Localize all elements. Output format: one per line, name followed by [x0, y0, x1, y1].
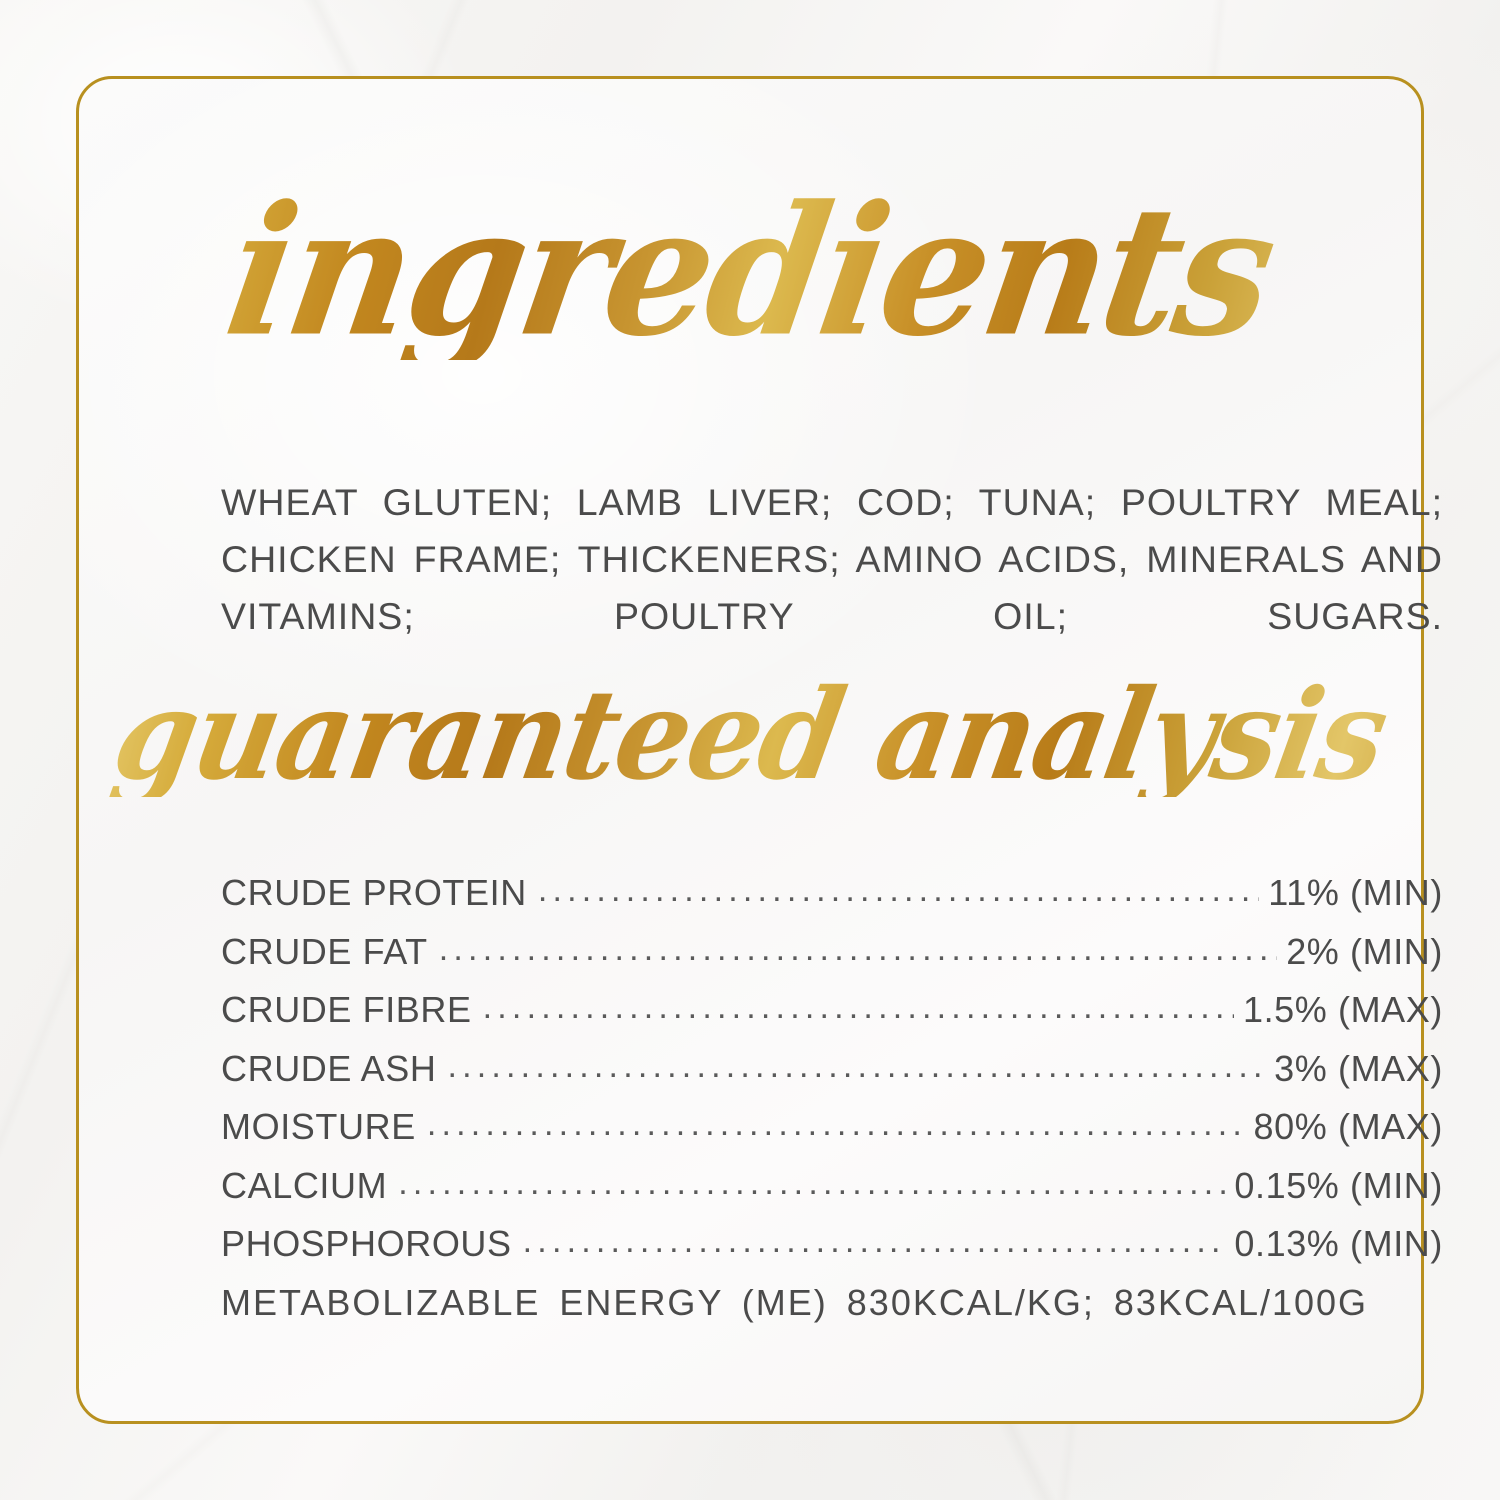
dot-leader: [523, 1222, 1226, 1261]
ingredients-heading: ingredients: [65, 182, 1435, 360]
nutrient-value: 0.15% (MIN): [1234, 1165, 1443, 1207]
nutrient-label: CRUDE ASH: [221, 1048, 436, 1090]
table-row: MOISTURE 80% (MAX): [221, 1106, 1443, 1165]
dot-leader: [398, 1164, 1225, 1203]
nutrient-label: MOISTURE: [221, 1106, 416, 1148]
table-row: CRUDE PROTEIN 11% (MIN): [221, 872, 1443, 931]
table-row: CALCIUM 0.15% (MIN): [221, 1165, 1443, 1224]
nutrient-label: CRUDE FIBRE: [221, 989, 472, 1031]
dot-leader: [538, 871, 1259, 910]
dot-leader: [447, 1047, 1265, 1086]
table-row: CRUDE FAT 2% (MIN): [221, 931, 1443, 990]
dot-leader: [439, 930, 1277, 969]
dot-leader: [483, 988, 1234, 1027]
nutrient-label: CRUDE FAT: [221, 931, 428, 973]
guaranteed-analysis-table: CRUDE PROTEIN 11% (MIN) CRUDE FAT 2% (MI…: [221, 872, 1443, 1340]
nutrient-value: 80% (MAX): [1254, 1106, 1443, 1148]
nutrient-value: 2% (MIN): [1286, 931, 1443, 973]
nutrient-value: 1.5% (MAX): [1243, 989, 1443, 1031]
nutrient-value: 3% (MAX): [1274, 1048, 1443, 1090]
table-row: CRUDE ASH 3% (MAX): [221, 1048, 1443, 1107]
nutrient-value: 11% (MIN): [1268, 872, 1443, 914]
table-row: CRUDE FIBRE 1.5% (MAX): [221, 989, 1443, 1048]
table-row: PHOSPHOROUS 0.13% (MIN): [221, 1223, 1443, 1282]
metabolizable-energy-line: METABOLIZABLE ENERGY (ME) 830KCAL/KG; 83…: [221, 1282, 1443, 1341]
dot-leader: [427, 1105, 1245, 1144]
nutrient-value: 0.13% (MIN): [1234, 1223, 1443, 1265]
guaranteed-analysis-heading: guaranteed analysis: [68, 673, 1432, 797]
nutrient-label: CRUDE PROTEIN: [221, 872, 527, 914]
label-page: ingredients WHEAT GLUTEN; LAMB LIVER; CO…: [0, 0, 1500, 1500]
nutrient-label: PHOSPHOROUS: [221, 1223, 512, 1265]
gold-bordered-card: ingredients WHEAT GLUTEN; LAMB LIVER; CO…: [76, 76, 1424, 1424]
nutrient-label: CALCIUM: [221, 1165, 387, 1207]
